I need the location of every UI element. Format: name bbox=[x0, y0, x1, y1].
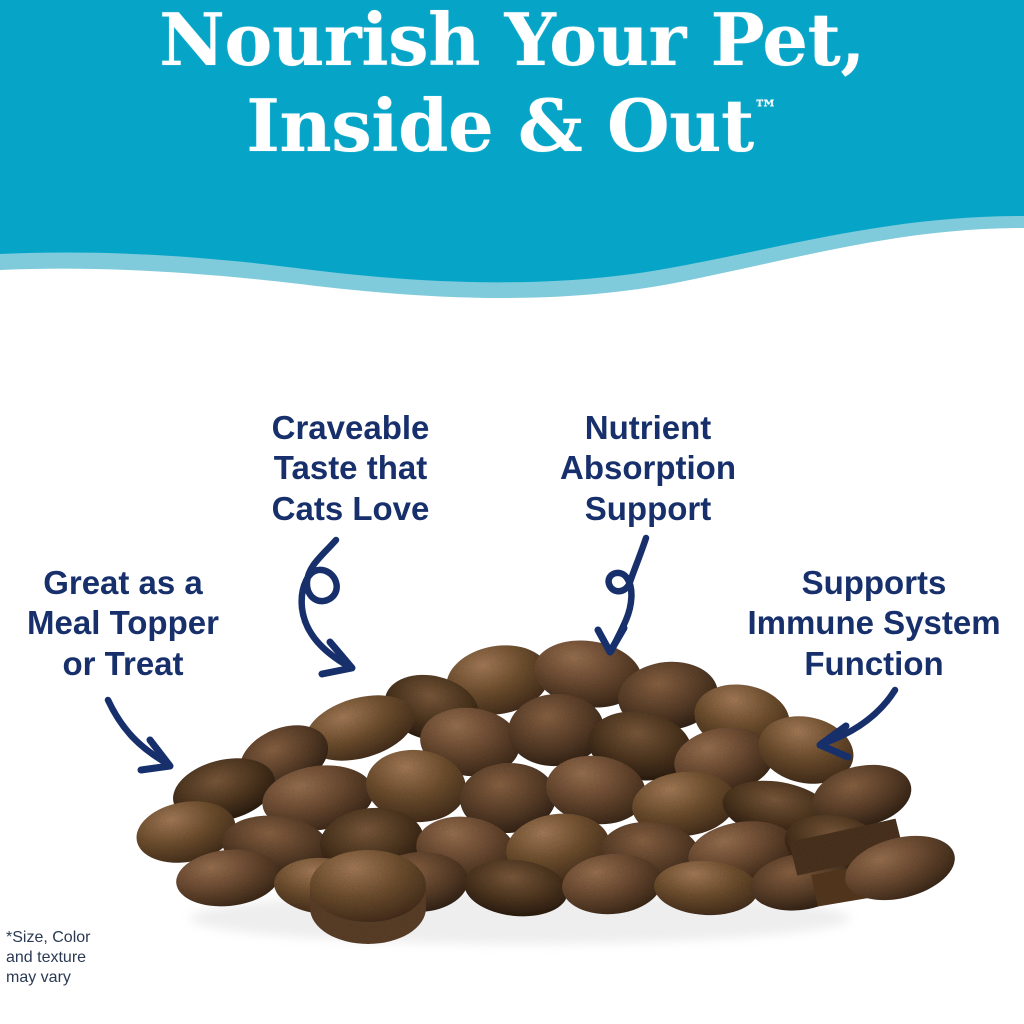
benefit-line: Great as a bbox=[8, 563, 238, 603]
headline-line-2: Inside & Out™ bbox=[0, 90, 1024, 162]
benefit-label-immune-support: Supports Immune System Function bbox=[724, 563, 1024, 684]
benefit-line: Immune System bbox=[724, 603, 1024, 643]
front-kibble-puck bbox=[310, 850, 426, 944]
footnote-disclaimer: *Size, Color and texture may vary bbox=[6, 928, 90, 988]
headline-line-1: Nourish Your Pet, bbox=[0, 4, 1024, 76]
trademark-symbol: ™ bbox=[754, 94, 778, 123]
infographic-canvas: Nourish Your Pet, Inside & Out™ bbox=[0, 0, 1024, 1024]
benefit-label-meal-topper: Great as a Meal Topper or Treat bbox=[8, 563, 238, 684]
benefit-line: Taste that bbox=[243, 448, 458, 488]
headline-line-2-text: Inside & Out bbox=[246, 83, 754, 168]
header-banner: Nourish Your Pet, Inside & Out™ bbox=[0, 0, 1024, 300]
benefit-line: or Treat bbox=[8, 644, 238, 684]
benefit-label-craveable-taste: Craveable Taste that Cats Love bbox=[243, 408, 458, 529]
footnote-line: may vary bbox=[6, 968, 90, 988]
benefit-line: Nutrient bbox=[548, 408, 748, 448]
benefit-line: Function bbox=[724, 644, 1024, 684]
footnote-line: *Size, Color bbox=[6, 928, 90, 948]
page-title: Nourish Your Pet, Inside & Out™ bbox=[0, 4, 1024, 162]
benefit-line: Cats Love bbox=[243, 489, 458, 529]
footnote-line: and texture bbox=[6, 948, 90, 968]
benefit-line: Supports bbox=[724, 563, 1024, 603]
benefit-label-nutrient-absorption: Nutrient Absorption Support bbox=[548, 408, 748, 529]
benefit-line: Craveable bbox=[243, 408, 458, 448]
benefit-line: Meal Topper bbox=[8, 603, 238, 643]
benefit-line: Absorption bbox=[548, 448, 748, 488]
benefit-line: Support bbox=[548, 489, 748, 529]
